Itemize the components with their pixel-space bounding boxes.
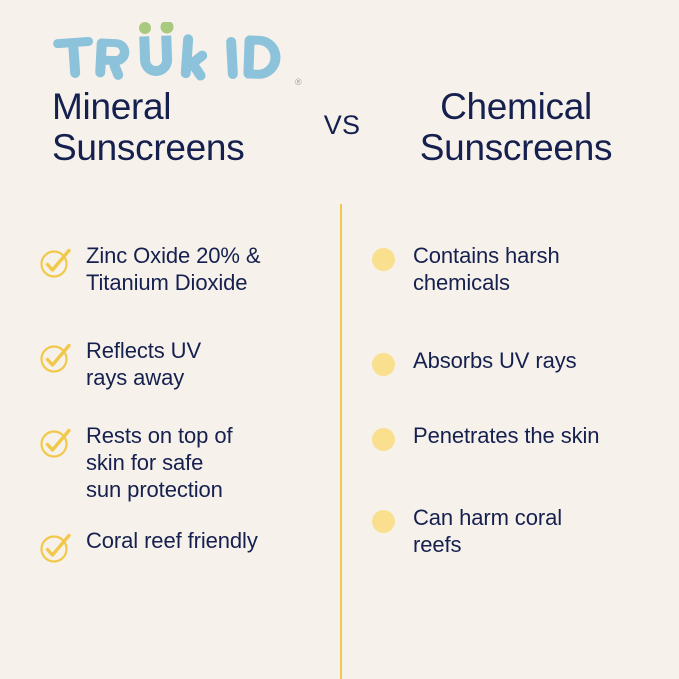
list-item: Rests on top ofskin for safesun protecti… xyxy=(34,423,386,503)
check-circle-icon xyxy=(38,425,72,459)
check-circle-icon xyxy=(38,425,72,459)
list-item-text-line: Contains harsh xyxy=(413,243,679,270)
list-item-text-line: Titanium Dioxide xyxy=(86,270,386,297)
trukid-logo-letters xyxy=(52,22,302,84)
list-item-text-line: rays away xyxy=(86,365,386,392)
check-circle-icon xyxy=(38,530,72,564)
list-item: Can harm coralreefs xyxy=(365,505,679,559)
list-item-text-line: reefs xyxy=(413,532,679,559)
bullet-dot-icon xyxy=(372,353,395,376)
list-item-text-line: Coral reef friendly xyxy=(86,528,386,555)
versus-label: VS xyxy=(312,110,372,141)
list-item: Zinc Oxide 20% &Titanium Dioxide xyxy=(34,243,386,297)
heading-mineral-sunscreens: Mineral Sunscreens xyxy=(52,86,332,169)
check-circle-icon xyxy=(38,340,72,374)
list-item: Penetrates the skin xyxy=(365,423,679,450)
bullet-dot-icon xyxy=(372,510,395,533)
list-item-text-line: Can harm coral xyxy=(413,505,679,532)
check-circle-icon xyxy=(38,245,72,279)
trukid-logo: ® xyxy=(52,22,302,84)
list-item: Absorbs UV rays xyxy=(365,348,679,375)
check-circle-icon xyxy=(38,245,72,279)
logo-umlaut-dot-left xyxy=(139,22,151,34)
heading-chemical-line-2: Sunscreens xyxy=(385,127,647,168)
list-item-text-line: Penetrates the skin xyxy=(413,423,679,450)
heading-mineral-line-2: Sunscreens xyxy=(52,127,332,168)
heading-chemical-line-1: Chemical xyxy=(385,86,647,127)
list-item: Reflects UVrays away xyxy=(34,338,386,392)
logo-umlaut-dot-right xyxy=(161,22,174,34)
list-item: Coral reef friendly xyxy=(34,528,386,555)
list-item-text-line: skin for safe xyxy=(86,450,386,477)
list-item-text-line: Zinc Oxide 20% & xyxy=(86,243,386,270)
check-circle-icon xyxy=(38,530,72,564)
infographic-page: ® Mineral Sunscreens VS Chemical Sunscre… xyxy=(0,0,679,679)
list-item-text-line: sun protection xyxy=(86,477,386,504)
heading-mineral-line-1: Mineral xyxy=(52,86,332,127)
list-item-text-line: Rests on top of xyxy=(86,423,386,450)
bullet-dot-icon xyxy=(372,248,395,271)
heading-chemical-sunscreens: Chemical Sunscreens xyxy=(385,86,647,169)
list-item-text-line: Reflects UV xyxy=(86,338,386,365)
check-circle-icon xyxy=(38,340,72,374)
list-item: Contains harshchemicals xyxy=(365,243,679,297)
list-item-text-line: Absorbs UV rays xyxy=(413,348,679,375)
list-item-text-line: chemicals xyxy=(413,270,679,297)
bullet-dot-icon xyxy=(372,428,395,451)
